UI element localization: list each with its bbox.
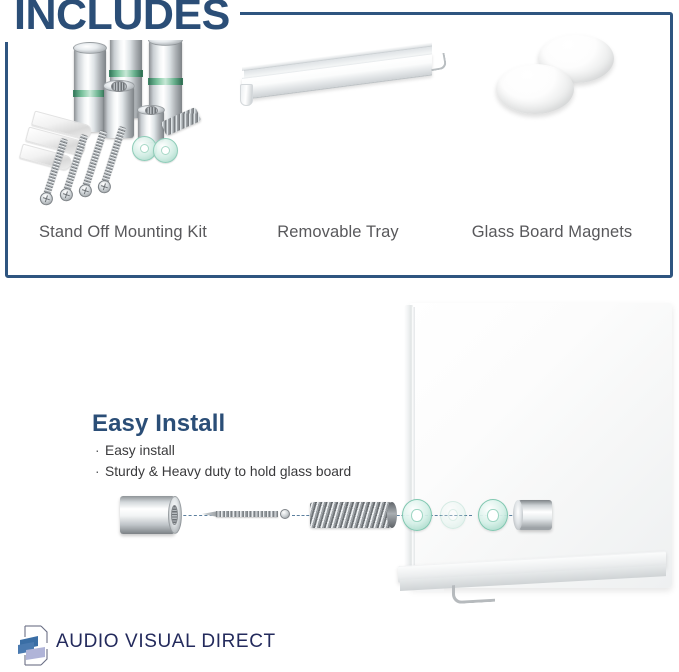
glass-washer-behind-glass: [440, 501, 466, 529]
standoff-kit-icon: [10, 26, 236, 206]
brand-logo: AUDIO VISUAL DIRECT: [14, 623, 314, 667]
magnet-dome: [496, 64, 574, 114]
exploded-assembly-diagram: [120, 488, 550, 544]
bullet-icon: ·: [95, 461, 105, 482]
include-item-label: Removable Tray: [236, 223, 440, 242]
glass-washer: [153, 138, 178, 163]
board-mounted-tray: [398, 566, 679, 600]
glass-whiteboard-image: [404, 303, 672, 598]
bullet-text: Sturdy & Heavy duty to hold glass board: [105, 464, 351, 479]
include-item-magnets: Glass Board Magnets: [440, 26, 664, 256]
list-item: ·Easy install: [95, 440, 425, 461]
list-item: ·Sturdy & Heavy duty to hold glass board: [95, 461, 425, 482]
infographic-page: INCLUDES: [0, 0, 679, 672]
logo-text: AUDIO VISUAL DIRECT: [56, 631, 276, 653]
include-item-standoff-kit: Stand Off Mounting Kit: [10, 26, 236, 256]
barrel-sleeve-part: [120, 496, 175, 534]
glass-board-magnets-icon: [440, 26, 664, 206]
logo-mark-icon: [14, 623, 60, 667]
glass-washer-part: [478, 499, 508, 531]
bullet-text: Easy install: [105, 443, 175, 458]
board-surface: [410, 303, 672, 588]
standoff-barrel: [74, 48, 106, 132]
mounting-screw-part: [202, 510, 290, 518]
end-cap-part: [518, 500, 552, 530]
section-heading: Easy Install: [92, 410, 225, 438]
glass-washer-part: [402, 499, 432, 531]
feature-bullet-list: ·Easy install ·Sturdy & Heavy duty to ho…: [95, 440, 425, 482]
include-item-removable-tray: Removable Tray: [236, 26, 440, 256]
include-item-label: Stand Off Mounting Kit: [10, 223, 236, 242]
threaded-stud-part: [310, 502, 392, 528]
title-left-mask: [0, 0, 9, 42]
page-title: INCLUDES: [10, 0, 240, 40]
removable-tray-icon: [236, 26, 440, 206]
include-item-label: Glass Board Magnets: [440, 223, 664, 242]
bullet-icon: ·: [95, 440, 105, 461]
